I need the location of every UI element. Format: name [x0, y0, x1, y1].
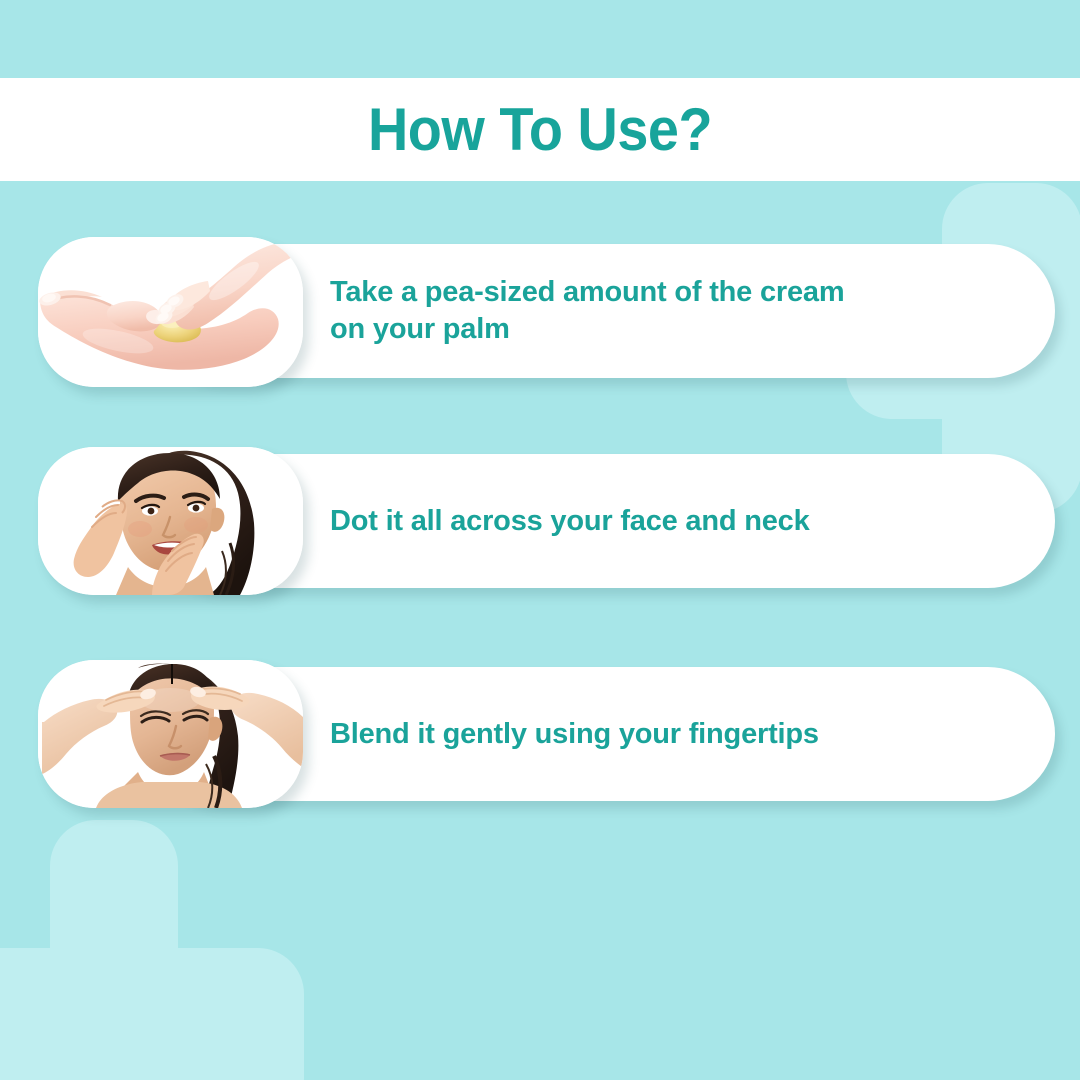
woman-blending-cream-illustration: [38, 660, 303, 808]
step-line: Blend it gently using your fingertips: [330, 716, 990, 753]
rounded-plus-bottom-left-icon: [0, 820, 304, 1080]
step-line: Dot it all across your face and neck: [330, 503, 990, 540]
step-line: Take a pea-sized amount of the cream: [330, 274, 990, 311]
step-text-1: Take a pea-sized amount of the cream on …: [330, 244, 990, 378]
step-line: on your palm: [330, 311, 990, 348]
header-band: How To Use?: [0, 78, 1080, 181]
step-image-2: [38, 447, 303, 595]
step-image-3: [38, 660, 303, 808]
hands-with-cream-illustration: [38, 237, 303, 387]
infographic-canvas: How To Use? Take a pea-sized amount of t…: [0, 0, 1080, 1080]
step-text-2: Dot it all across your face and neck: [330, 454, 990, 588]
step-image-1: [38, 237, 303, 387]
woman-touching-face-illustration: [38, 447, 303, 595]
step-text-3: Blend it gently using your fingertips: [330, 667, 990, 801]
page-title: How To Use?: [368, 100, 712, 160]
